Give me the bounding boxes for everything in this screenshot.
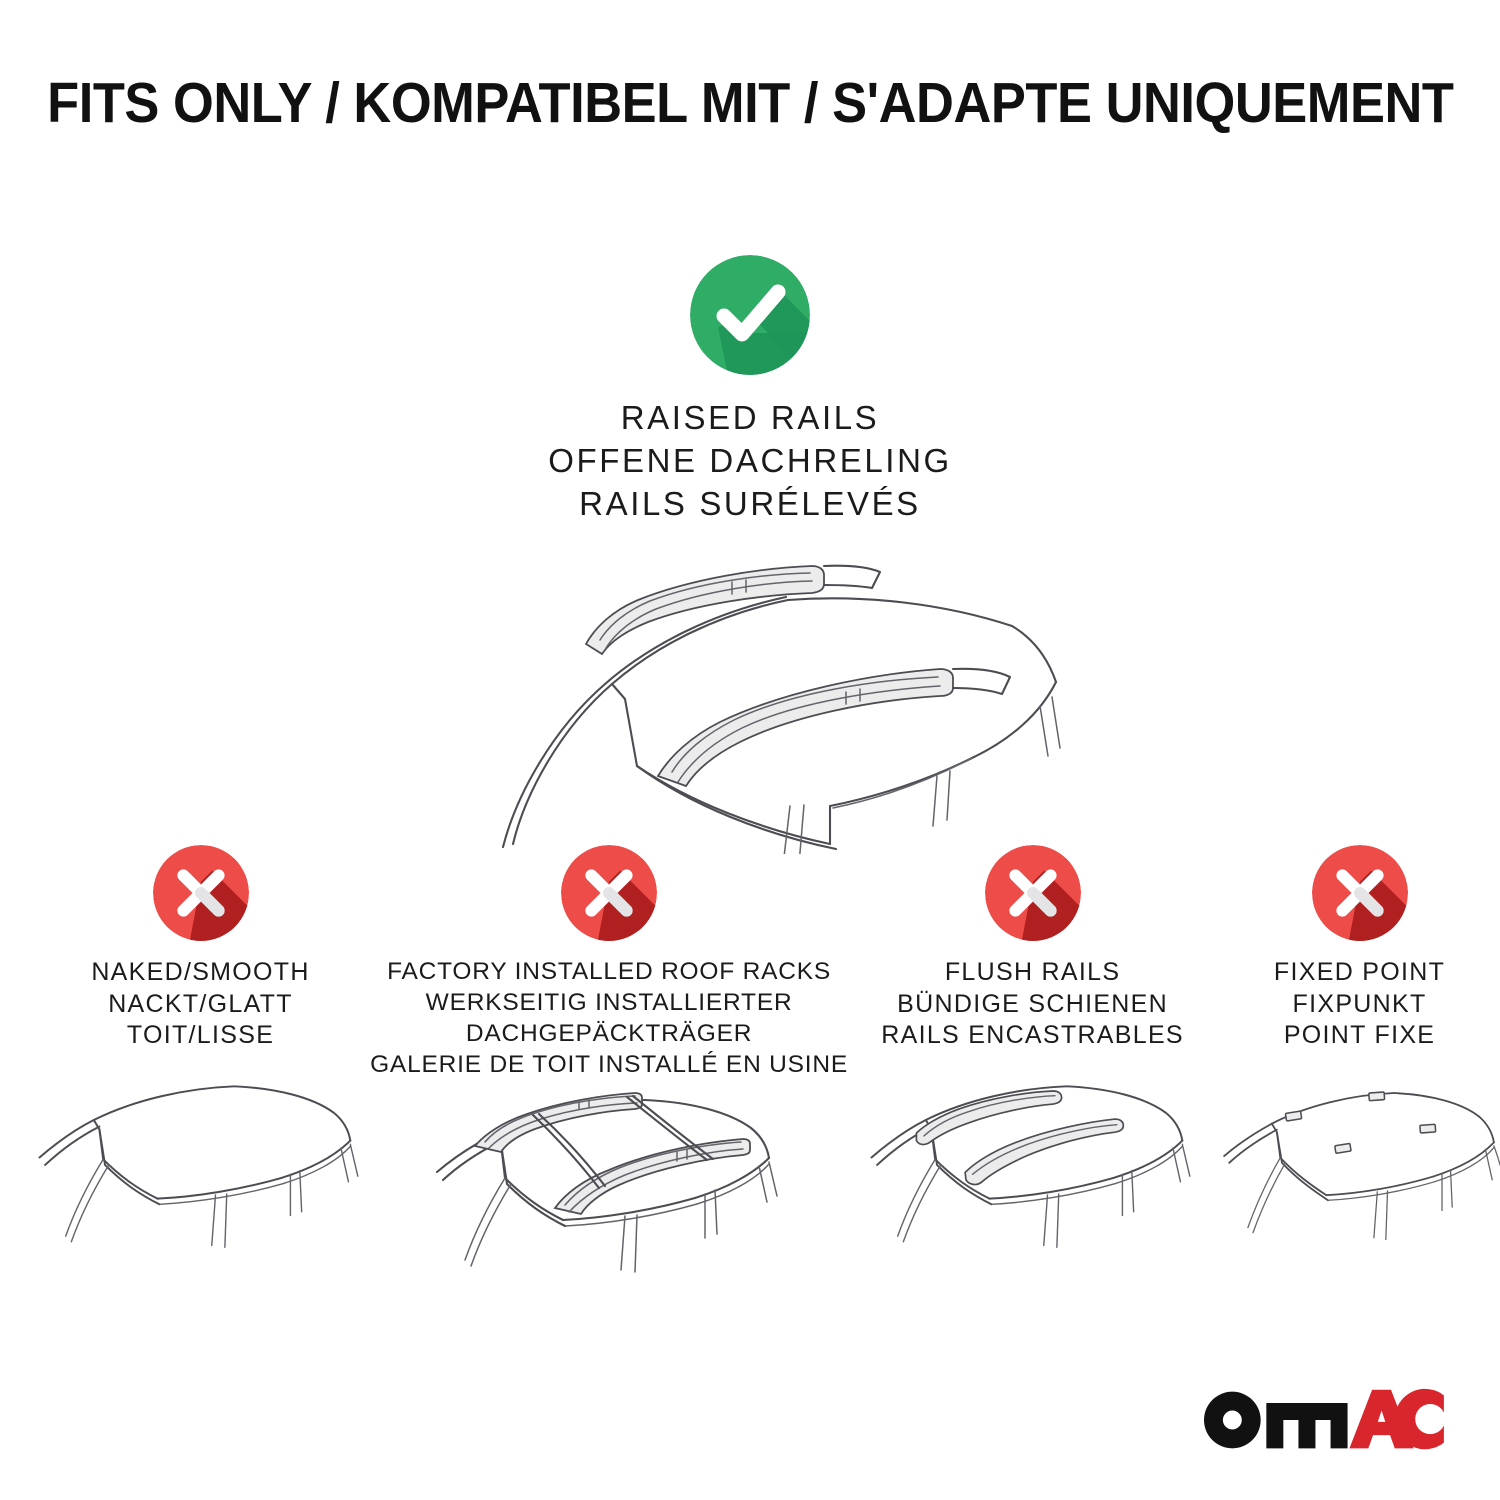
caption-line-de-2: DACHGEPÄCKTRÄGER — [370, 1019, 848, 1050]
compatible-section: RAISED RAILS OFFENE DACHRELING RAILS SUR… — [0, 255, 1500, 854]
caption-line-de: BÜNDIGE SCHIENEN — [881, 989, 1184, 1021]
cross-circle-icon — [561, 845, 657, 941]
caption-line-en: FACTORY INSTALLED ROOF RACKS — [370, 957, 848, 988]
cross-circle-icon — [153, 845, 249, 941]
option-flush-rails: FLUSH RAILS BÜNDIGE SCHIENEN RAILS ENCAS… — [864, 845, 1201, 1294]
logo-letter-o — [1204, 1392, 1261, 1449]
car-roof-fixed-point-illustration — [1219, 1064, 1500, 1294]
compatible-caption: RAISED RAILS OFFENE DACHRELING RAILS SUR… — [548, 397, 952, 526]
car-roof-flush-rails-illustration — [864, 1064, 1201, 1294]
omac-logo — [1198, 1386, 1448, 1456]
option-caption: FIXED POINT FIXPUNKT POINT FIXE — [1274, 957, 1445, 1052]
page-title: FITS ONLY / KOMPATIBEL MIT / S'ADAPTE UN… — [47, 70, 1453, 136]
caption-line-fr: POINT FIXE — [1274, 1020, 1445, 1052]
check-circle-icon — [690, 255, 810, 375]
option-caption: FACTORY INSTALLED ROOF RACKS WERKSEITIG … — [370, 957, 848, 1080]
fixed-point-markers — [1286, 1091, 1436, 1152]
option-fixed-point: FIXED POINT FIXPUNKT POINT FIXE — [1219, 845, 1500, 1294]
caption-line-fr: RAILS ENCASTRABLES — [881, 1020, 1184, 1052]
cross-circle-icon — [1312, 845, 1408, 941]
caption-line-fr: TOIT/LISSE — [91, 1020, 309, 1052]
car-roof-raised-rails-illustration — [400, 544, 1100, 854]
option-factory-roof-racks: FACTORY INSTALLED ROOF RACKS WERKSEITIG … — [384, 845, 834, 1322]
option-caption: FLUSH RAILS BÜNDIGE SCHIENEN RAILS ENCAS… — [881, 957, 1184, 1052]
caption-line-de: FIXPUNKT — [1274, 989, 1445, 1021]
caption-line-de: NACKT/GLATT — [91, 989, 309, 1021]
logo-letter-m — [1266, 1403, 1347, 1448]
car-roof-factory-racks-illustration — [384, 1092, 834, 1322]
caption-line-en: FLUSH RAILS — [881, 957, 1184, 989]
page-header: FITS ONLY / KOMPATIBEL MIT / S'ADAPTE UN… — [0, 0, 1500, 205]
caption-line-en: FIXED POINT — [1274, 957, 1445, 989]
caption-line-fr: GALERIE DE TOIT INSTALLÉ EN USINE — [370, 1050, 848, 1081]
caption-line-en: NAKED/SMOOTH — [91, 957, 309, 989]
car-roof-naked-illustration — [32, 1064, 369, 1294]
caption-line-en: RAISED RAILS — [548, 397, 952, 440]
caption-line-de: OFFENE DACHRELING — [548, 440, 952, 483]
incompatible-options-row: NAKED/SMOOTH NACKT/GLATT TOIT/LISSE — [0, 845, 1500, 1345]
cross-circle-icon — [985, 845, 1081, 941]
option-caption: NAKED/SMOOTH NACKT/GLATT TOIT/LISSE — [91, 957, 309, 1052]
caption-line-de-1: WERKSEITIG INSTALLIERTER — [370, 988, 848, 1019]
caption-line-fr: RAILS SURÉLEVÉS — [548, 483, 952, 526]
option-naked-smooth: NAKED/SMOOTH NACKT/GLATT TOIT/LISSE — [32, 845, 369, 1294]
